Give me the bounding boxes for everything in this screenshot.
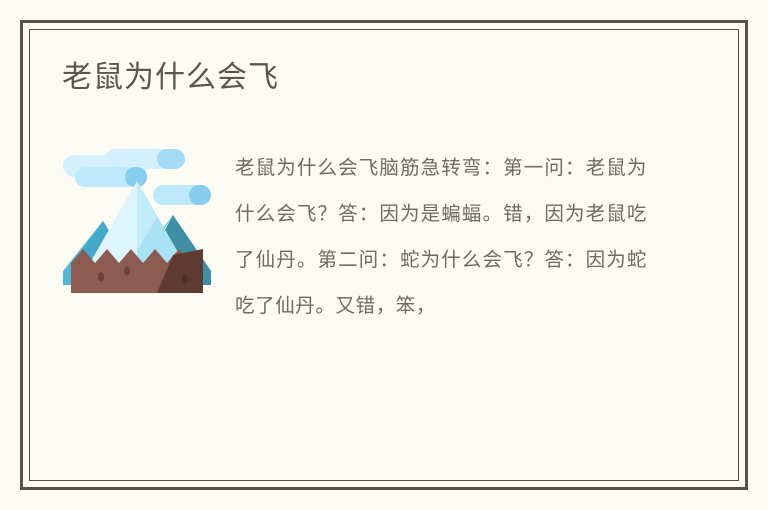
- mountain-icon: [61, 143, 213, 295]
- mountain-illustration: [61, 143, 213, 295]
- document-page: 老鼠为什么会飞: [0, 0, 768, 510]
- article-text: 老鼠为什么会飞脑筋急转弯：第一问：老鼠为什么会飞？答：因为是蝙蝠。错，因为老鼠吃…: [235, 145, 647, 329]
- article-body-row: 老鼠为什么会飞脑筋急转弯：第一问：老鼠为什么会飞？答：因为是蝙蝠。错，因为老鼠吃…: [60, 141, 707, 329]
- page-content: 老鼠为什么会飞: [29, 29, 739, 481]
- page-title: 老鼠为什么会飞: [60, 59, 707, 97]
